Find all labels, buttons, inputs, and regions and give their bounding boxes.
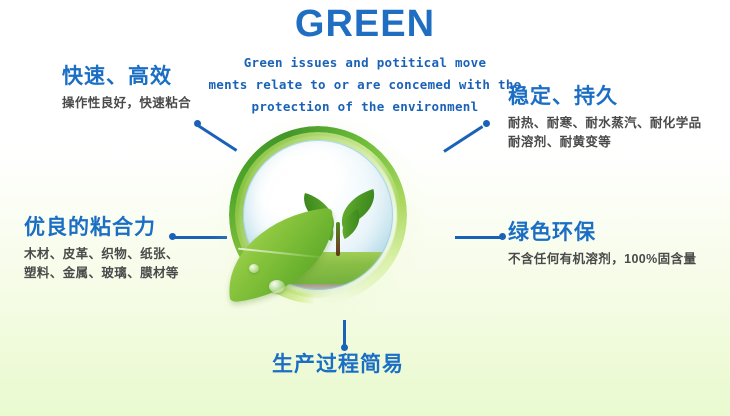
feature-fast: 快速、高效 操作性良好，快速粘合 (62, 64, 191, 113)
subtitle-line-3: protection of the environmenl (185, 96, 545, 118)
green-globe-sprout-emblem (225, 118, 415, 318)
subtitle-line-2: ments relate to or are concemed with the (185, 74, 545, 96)
connector-line-stable (443, 125, 483, 153)
feature-bond-desc-line-2: 塑料、金属、玻璃、膜材等 (24, 264, 179, 283)
feature-fast-desc: 操作性良好，快速粘合 (62, 94, 191, 113)
glass-highlight (273, 154, 347, 194)
green-product-feature-poster: GREEN Green issues and potitical move me… (0, 0, 730, 416)
subtitle-line-1: Green issues and potitical move (185, 52, 545, 74)
connector-dot-eco (499, 233, 506, 240)
feature-stable-desc: 耐热、耐寒、耐水蒸汽、耐化学品 耐溶剂、耐黄变等 (508, 114, 702, 152)
feature-bond-title: 优良的粘合力 (24, 215, 179, 241)
connector-dot-easy (341, 344, 348, 351)
connector-dot-fast (194, 120, 201, 127)
feature-bond: 优良的粘合力 木材、皮革、织物、纸张、 塑料、金属、玻璃、膜材等 (24, 215, 179, 283)
connector-line-eco (455, 236, 503, 239)
water-droplet-small-icon (249, 264, 259, 273)
page-title: GREEN (0, 2, 730, 46)
feature-stable-title: 稳定、持久 (508, 84, 702, 110)
subtitle-paragraph: Green issues and potitical move ments re… (185, 52, 545, 118)
water-droplet-large-icon (269, 280, 285, 293)
feature-stable-desc-line-2: 耐溶剂、耐黄变等 (508, 133, 702, 152)
feature-bond-desc: 木材、皮革、织物、纸张、 塑料、金属、玻璃、膜材等 (24, 245, 179, 283)
feature-easy: 生产过程简易 (272, 352, 404, 378)
feature-eco-desc-line-1: 不含任何有机溶剂，100%固含量 (508, 250, 696, 269)
feature-bond-desc-line-1: 木材、皮革、织物、纸张、 (24, 245, 179, 264)
feature-eco: 绿色环保 不含任何有机溶剂，100%固含量 (508, 220, 696, 269)
feature-stable-desc-line-1: 耐热、耐寒、耐水蒸汽、耐化学品 (508, 114, 702, 133)
feature-eco-desc: 不含任何有机溶剂，100%固含量 (508, 250, 696, 269)
feature-stable: 稳定、持久 耐热、耐寒、耐水蒸汽、耐化学品 耐溶剂、耐黄变等 (508, 84, 702, 152)
feature-easy-title: 生产过程简易 (272, 352, 404, 378)
feature-fast-desc-line-1: 操作性良好，快速粘合 (62, 94, 191, 113)
connector-dot-stable (483, 120, 490, 127)
feature-fast-title: 快速、高效 (62, 64, 191, 90)
feature-eco-title: 绿色环保 (508, 220, 696, 246)
